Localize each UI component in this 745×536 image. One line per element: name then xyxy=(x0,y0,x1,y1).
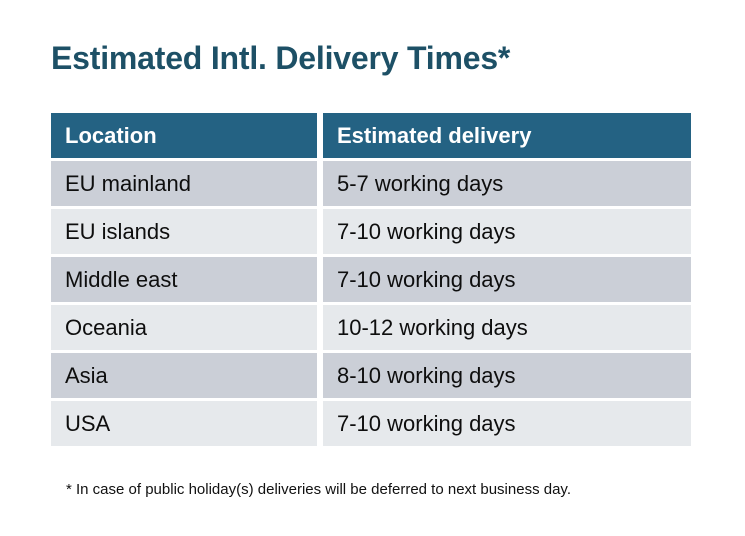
table-header-row: Location Estimated delivery xyxy=(51,113,691,158)
delivery-times-table: Location Estimated delivery EU mainland … xyxy=(51,113,691,446)
column-header-location: Location xyxy=(51,113,317,158)
cell-location: Oceania xyxy=(51,305,317,350)
cell-delivery: 7-10 working days xyxy=(323,209,691,254)
cell-location: Middle east xyxy=(51,257,317,302)
table-row: Middle east 7-10 working days xyxy=(51,257,691,302)
page-title: Estimated Intl. Delivery Times* xyxy=(51,38,510,78)
cell-delivery: 5-7 working days xyxy=(323,161,691,206)
cell-delivery: 8-10 working days xyxy=(323,353,691,398)
table-row: Oceania 10-12 working days xyxy=(51,305,691,350)
cell-delivery: 7-10 working days xyxy=(323,401,691,446)
delivery-times-page: Estimated Intl. Delivery Times* Location… xyxy=(0,0,745,536)
cell-location: EU mainland xyxy=(51,161,317,206)
table-row: Asia 8-10 working days xyxy=(51,353,691,398)
cell-location: Asia xyxy=(51,353,317,398)
cell-location: USA xyxy=(51,401,317,446)
table-row: EU islands 7-10 working days xyxy=(51,209,691,254)
cell-location: EU islands xyxy=(51,209,317,254)
column-header-estimated-delivery: Estimated delivery xyxy=(323,113,691,158)
table-row: USA 7-10 working days xyxy=(51,401,691,446)
cell-delivery: 7-10 working days xyxy=(323,257,691,302)
footnote-text: * In case of public holiday(s) deliverie… xyxy=(66,479,571,501)
cell-delivery: 10-12 working days xyxy=(323,305,691,350)
table-row: EU mainland 5-7 working days xyxy=(51,161,691,206)
